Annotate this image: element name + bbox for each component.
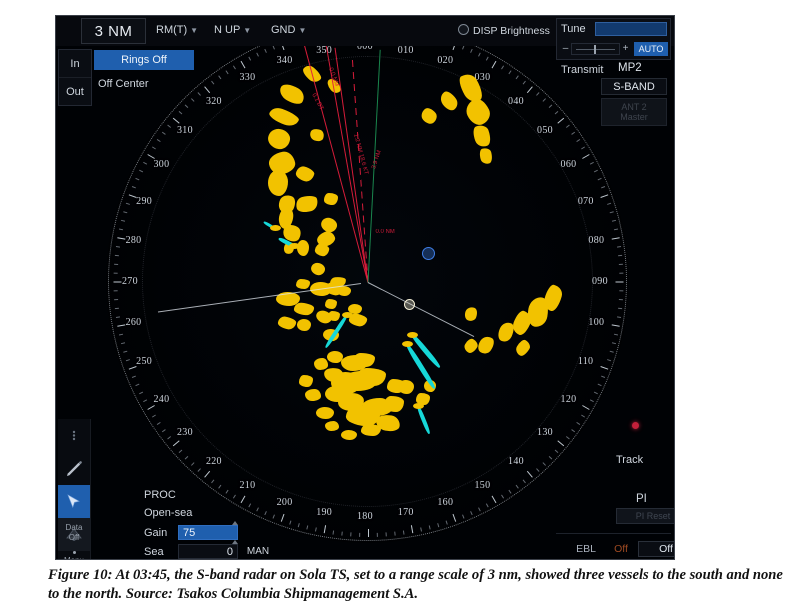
radar-echo xyxy=(328,311,340,321)
sea-label: Sea xyxy=(144,546,178,558)
radar-echo xyxy=(327,351,343,363)
bearing-label-260: 260 xyxy=(126,317,142,328)
data-off-line2: Off xyxy=(58,533,90,543)
tune-panel: Tune – + AUTO xyxy=(556,18,671,60)
screenshot-root: 0000100200300400500600700800901001101201… xyxy=(0,0,800,606)
radar-echo xyxy=(268,170,288,196)
radar-echo xyxy=(325,386,347,402)
processing-label[interactable]: PROC xyxy=(144,489,176,501)
ais-target-symbol[interactable] xyxy=(422,247,435,260)
gain-label: Gain xyxy=(144,527,178,539)
radar-echo xyxy=(361,424,381,436)
bearing-label-020: 020 xyxy=(437,55,453,66)
vessel-echo-head xyxy=(270,225,281,231)
transmit-label[interactable]: Transmit xyxy=(561,64,603,76)
bearing-label-140: 140 xyxy=(508,456,524,467)
slider-marker-icon xyxy=(232,559,238,560)
track-label[interactable]: Track xyxy=(616,454,643,466)
disp-brightness-label: DISP Brightness xyxy=(473,25,550,37)
bearing-label-080: 080 xyxy=(588,235,604,246)
tune-slider-row: – + AUTO xyxy=(560,40,668,57)
orientation-selector[interactable]: N UP▼ xyxy=(214,24,251,36)
bearing-label-250: 250 xyxy=(136,356,152,367)
off-center-button[interactable]: Off Center xyxy=(94,74,194,94)
radar-echo xyxy=(305,389,321,401)
range-scale-indicator[interactable]: 3 NM xyxy=(81,18,146,44)
menu-label: Menu xyxy=(58,556,90,560)
bearing-label-050: 050 xyxy=(537,125,553,136)
preset-label[interactable]: Open-sea xyxy=(144,507,192,519)
radar-echo xyxy=(325,299,337,309)
vessel-echo-head xyxy=(342,312,353,318)
bearing-label-120: 120 xyxy=(561,394,577,405)
bearing-label-160: 160 xyxy=(437,497,453,508)
bearing-label-340: 340 xyxy=(277,55,293,66)
cursor-tool-icon[interactable] xyxy=(58,485,90,518)
radar-echo xyxy=(341,430,357,440)
bearing-label-300: 300 xyxy=(153,159,169,170)
radar-echo xyxy=(314,358,328,370)
figure-caption: Figure 10: At 03:45, the S-band radar on… xyxy=(48,566,792,605)
tune-increase-button[interactable]: + xyxy=(620,43,631,54)
bearing-label-310: 310 xyxy=(177,125,193,136)
bearing-label-210: 210 xyxy=(240,480,256,491)
pi-reset-button[interactable]: PI Reset xyxy=(616,508,675,524)
control-row-sea: Sea0MAN xyxy=(144,543,278,560)
bearing-label-070: 070 xyxy=(578,196,594,207)
bearing-label-060: 060 xyxy=(561,159,577,170)
brightness-knob-icon xyxy=(458,24,469,35)
menu-dot-icon xyxy=(73,551,76,554)
bearing-label-350: 350 xyxy=(316,45,332,56)
stabilisation-label: GND xyxy=(271,24,295,36)
orientation-label: N UP xyxy=(214,24,240,36)
pencil-draw-tool-icon[interactable] xyxy=(58,452,90,485)
radar-echo xyxy=(356,368,386,386)
presentation-mode-label: RM(T) xyxy=(156,24,187,36)
radar-display: 0000100200300400500600700800901001101201… xyxy=(55,15,675,560)
radar-band-indicator: S-BAND xyxy=(601,78,667,95)
bearing-label-330: 330 xyxy=(240,72,256,83)
radar-echo xyxy=(316,407,334,419)
antenna-label: MP2 xyxy=(618,62,642,74)
dots-handle-icon[interactable] xyxy=(58,419,90,452)
chevron-down-icon: ▼ xyxy=(298,26,306,35)
bearing-label-240: 240 xyxy=(153,394,169,405)
radar-echo xyxy=(337,286,351,296)
antenna-master-line2: Master xyxy=(620,112,648,122)
bearing-label-290: 290 xyxy=(136,196,152,207)
menu-button[interactable]: Menu xyxy=(58,549,90,560)
bearing-label-220: 220 xyxy=(206,456,222,467)
slider-marker-icon xyxy=(232,521,238,525)
disp-brightness-control[interactable]: DISP Brightness xyxy=(458,24,550,37)
bearing-label-090: 090 xyxy=(592,276,608,287)
ebl-value-field[interactable]: Off xyxy=(638,541,675,557)
bearing-label-270: 270 xyxy=(122,276,138,287)
bearing-label-180: 180 xyxy=(357,511,373,522)
tune-slider-thumb[interactable] xyxy=(594,45,596,54)
radar-echo xyxy=(325,421,339,431)
bearing-label-170: 170 xyxy=(398,507,414,518)
radar-echo xyxy=(297,319,311,331)
radar-echo xyxy=(299,375,313,387)
chevron-down-icon: ▼ xyxy=(190,26,198,35)
antenna-master-line1: ANT 2 xyxy=(621,102,646,112)
data-off-line1: Data xyxy=(58,523,90,533)
bearing-label-320: 320 xyxy=(206,96,222,107)
presentation-mode-selector[interactable]: RM(T)▼ xyxy=(156,24,198,36)
own-ship-marker xyxy=(404,299,415,310)
range-in-button[interactable]: In xyxy=(59,50,91,78)
panel-divider xyxy=(556,533,671,534)
bearing-label-110: 110 xyxy=(578,356,594,367)
data-off-button[interactable]: Data Off xyxy=(58,521,90,547)
pi-label: PI xyxy=(636,493,647,505)
slider-marker-icon xyxy=(232,540,238,544)
bearing-label-100: 100 xyxy=(588,317,604,328)
range-zoom-buttons: In Out xyxy=(58,49,92,106)
tune-slider[interactable] xyxy=(571,43,620,55)
gain-value-field[interactable]: 75 xyxy=(178,525,238,540)
range-rings-toggle[interactable]: Rings Off xyxy=(94,50,194,70)
bearing-label-130: 130 xyxy=(537,427,553,438)
radar-echo xyxy=(296,279,310,289)
tune-decrease-button[interactable]: – xyxy=(560,43,571,54)
tune-auto-button[interactable]: AUTO xyxy=(634,42,668,56)
sea-mode-button[interactable]: MAN xyxy=(238,546,278,557)
range-out-button[interactable]: Out xyxy=(59,78,91,105)
sea-value-field[interactable]: 0 xyxy=(178,544,238,559)
bearing-label-010: 010 xyxy=(398,45,414,56)
radar-echo xyxy=(324,193,338,205)
bearing-label-190: 190 xyxy=(316,507,332,518)
tune-level-bar xyxy=(595,22,667,36)
ppi-scope[interactable]: 0000100200300400500600700800901001101201… xyxy=(56,16,674,559)
bearing-label-230: 230 xyxy=(177,427,193,438)
tune-label: Tune xyxy=(561,23,586,35)
arpa-target-symbol[interactable] xyxy=(632,422,639,429)
bearing-label-280: 280 xyxy=(126,235,142,246)
stabilisation-selector[interactable]: GND▼ xyxy=(271,24,306,36)
ebl-state[interactable]: Off xyxy=(604,543,638,555)
row-vrm: VRMOffOffNM xyxy=(552,559,675,560)
bearing-label-040: 040 xyxy=(508,96,524,107)
ebl-label: EBL xyxy=(552,543,604,555)
control-row-gain: Gain75 xyxy=(144,524,278,541)
radar-echo xyxy=(398,380,414,394)
bearing-label-200: 200 xyxy=(277,497,293,508)
bearing-label-150: 150 xyxy=(475,480,491,491)
radar-echo xyxy=(353,353,375,367)
row-ebl: EBLOffOff° T xyxy=(552,540,675,558)
ebl-readout-label: 0.0 NM xyxy=(375,229,394,235)
radar-echo xyxy=(384,396,404,412)
antenna-master-button[interactable]: ANT 2 Master xyxy=(601,98,667,126)
chevron-down-icon: ▼ xyxy=(243,26,251,35)
